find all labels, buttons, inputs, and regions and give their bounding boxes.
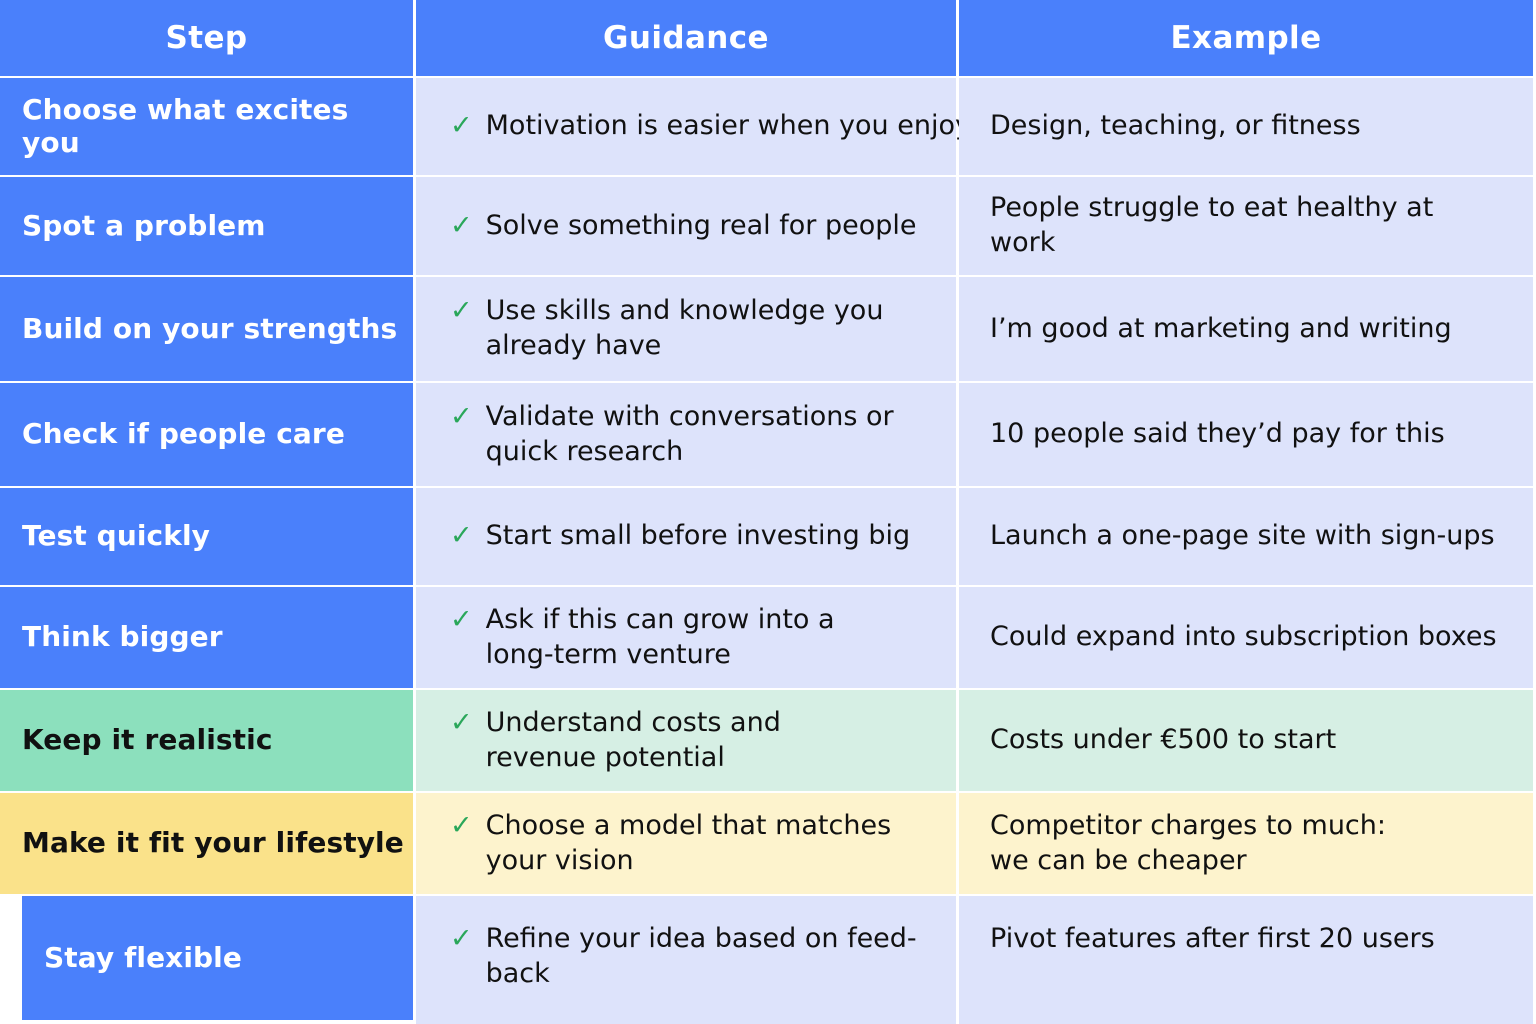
guidance-text: Understand costs and revenue potential xyxy=(486,706,781,775)
guidance-text: Choose a model that matches your vision xyxy=(486,809,892,878)
example-cell: Launch a one-page site with sign-ups xyxy=(959,488,1533,585)
guidance-text: Use skills and knowledge you already hav… xyxy=(486,294,884,363)
check-icon: ✓ xyxy=(450,519,473,554)
column-header-step[interactable]: Step xyxy=(0,0,416,76)
step-cell: Test quickly xyxy=(0,488,416,585)
table-row-highlighted-yellow: Make it fit your lifestyle ✓ Choose a mo… xyxy=(0,793,1536,896)
check-icon: ✓ xyxy=(450,109,473,144)
guidance-cell: ✓ Start small before investing big xyxy=(416,488,959,585)
guidance-text: Ask if this can grow into a long-term ve… xyxy=(486,603,835,672)
check-icon: ✓ xyxy=(450,809,473,844)
check-icon: ✓ xyxy=(450,400,473,435)
example-cell: I’m good at marketing and writing xyxy=(959,277,1533,381)
example-cell: Could expand into subscription boxes xyxy=(959,587,1533,688)
example-text: People struggle to eat healthy at work xyxy=(990,191,1433,260)
check-icon: ✓ xyxy=(450,209,473,244)
guidance-cell: ✓ Refine your idea based on feed- back xyxy=(416,896,959,1024)
guidance-cell: ✓ Validate with conversations or quick r… xyxy=(416,383,959,486)
table-row: Spot a problem ✓ Solve something real fo… xyxy=(0,177,1536,277)
table-row: Test quickly ✓ Start small before invest… xyxy=(0,488,1536,587)
example-cell: Pivot features after first 20 users xyxy=(959,896,1533,1024)
table-row: Build on your strengths ✓ Use skills and… xyxy=(0,277,1536,383)
step-label: Spot a problem xyxy=(22,210,266,242)
step-label: Make it fit your lifestyle xyxy=(22,827,404,859)
check-icon: ✓ xyxy=(450,294,473,329)
table-row: Choose what excites you ✓ Motivation is … xyxy=(0,78,1536,177)
guidance-text: Validate with conversations or quick res… xyxy=(486,400,894,469)
step-cell: Keep it realistic xyxy=(0,690,416,791)
column-header-step-label: Step xyxy=(166,23,248,54)
guidance-text: Start small before investing big xyxy=(486,519,911,554)
step-label: Keep it realistic xyxy=(22,724,273,756)
example-cell: People struggle to eat healthy at work xyxy=(959,177,1533,275)
step-cell: Spot a problem xyxy=(0,177,416,275)
step-cell: Make it fit your lifestyle xyxy=(0,793,416,894)
step-cell: Check if people care xyxy=(0,383,416,486)
step-label: Test quickly xyxy=(22,520,210,552)
guidance-cell: ✓ Solve something real for people xyxy=(416,177,959,275)
step-cell-fill: Stay flexible xyxy=(22,896,413,1020)
check-icon: ✓ xyxy=(450,603,473,638)
table-row: Check if people care ✓ Validate with con… xyxy=(0,383,1536,488)
example-text: Pivot features after first 20 users xyxy=(990,922,1435,957)
table-row: Think bigger ✓ Ask if this can grow into… xyxy=(0,587,1536,690)
example-text: Could expand into subscription boxes xyxy=(990,620,1497,655)
step-label: Think bigger xyxy=(22,621,223,653)
guidance-cell: ✓ Ask if this can grow into a long-term … xyxy=(416,587,959,688)
step-label: Check if people care xyxy=(22,418,345,450)
guidance-cell: ✓ Use skills and knowledge you already h… xyxy=(416,277,959,381)
column-header-example-label: Example xyxy=(1170,23,1321,54)
example-cell: Competitor charges to much: we can be ch… xyxy=(959,793,1533,894)
guidance-cell: ✓ Understand costs and revenue potential xyxy=(416,690,959,791)
example-cell: 10 people said they’d pay for this xyxy=(959,383,1533,486)
example-text: Costs under €500 to start xyxy=(990,723,1336,758)
example-cell: Costs under €500 to start xyxy=(959,690,1533,791)
table-row-highlighted-green: Keep it realistic ✓ Understand costs and… xyxy=(0,690,1536,793)
step-label: Build on your strengths xyxy=(22,313,397,345)
step-label: Choose what excites you xyxy=(22,94,413,158)
check-icon: ✓ xyxy=(450,706,473,741)
guidance-text: Solve something real for people xyxy=(486,209,917,244)
column-header-example[interactable]: Example xyxy=(959,0,1533,76)
table-header-row: Step Guidance Example xyxy=(0,0,1536,78)
table-row: Stay flexible ✓ Refine your idea based o… xyxy=(0,896,1536,1024)
column-header-guidance-label: Guidance xyxy=(603,23,769,54)
example-text: Design, teaching, or fitness xyxy=(990,109,1361,144)
guidance-cell: ✓ Motivation is easier when you enjoy it xyxy=(416,78,959,175)
check-icon: ✓ xyxy=(450,922,473,957)
example-text: 10 people said they’d pay for this xyxy=(990,417,1445,452)
step-cell: Choose what excites you xyxy=(0,78,416,175)
example-cell: Design, teaching, or fitness xyxy=(959,78,1533,175)
step-cell: Build on your strengths xyxy=(0,277,416,381)
steps-table: Step Guidance Example Choose what excite… xyxy=(0,0,1536,1024)
guidance-text: Motivation is easier when you enjoy it xyxy=(486,109,998,144)
step-cell: Stay flexible xyxy=(0,896,416,1024)
example-text: Competitor charges to much: we can be ch… xyxy=(990,809,1386,878)
column-header-guidance[interactable]: Guidance xyxy=(416,0,959,76)
example-text: Launch a one-page site with sign-ups xyxy=(990,519,1495,554)
step-cell: Think bigger xyxy=(0,587,416,688)
guidance-cell: ✓ Choose a model that matches your visio… xyxy=(416,793,959,894)
step-label: Stay flexible xyxy=(44,942,242,974)
guidance-text: Refine your idea based on feed- back xyxy=(486,922,917,991)
example-text: I’m good at marketing and writing xyxy=(990,312,1452,347)
